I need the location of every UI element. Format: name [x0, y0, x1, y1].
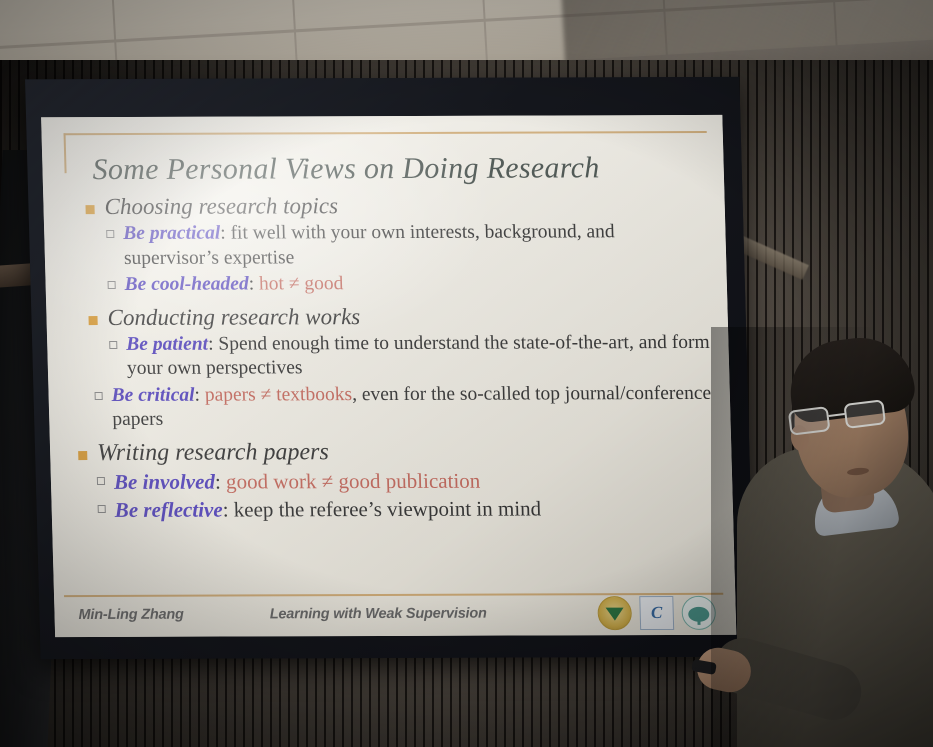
title-tick — [64, 133, 67, 173]
slide-body: Choosing research topics Be practical: f… — [63, 192, 715, 524]
title-rule — [64, 131, 707, 135]
square-bullet-icon — [88, 316, 97, 325]
sub-bullet-lead: Be cool-headed — [124, 274, 249, 295]
bullet-level2: Be cool-headed: hot ≠ good — [107, 271, 709, 298]
footer-logos: C — [597, 596, 716, 630]
presenter-shading — [711, 327, 933, 747]
sub-bullet-sep: : — [215, 469, 227, 493]
hollow-square-bullet-icon — [98, 505, 106, 513]
slide-group-conducting: Conducting research works Be patient: Sp… — [66, 303, 713, 433]
sub-bullet-body-red: papers ≠ textbooks — [205, 384, 353, 406]
projection-screen-frame: Some Personal Views on Doing Research Ch… — [25, 77, 755, 659]
bullet-level2: Be critical: papers ≠ textbooks, even fo… — [94, 382, 712, 433]
university-seal-logo — [597, 596, 632, 630]
square-bullet-icon — [78, 451, 87, 460]
slide-title: Some Personal Views on Doing Research — [92, 151, 706, 187]
sub-bullet-sep: : — [208, 333, 219, 354]
hollow-square-bullet-icon — [108, 281, 116, 289]
sub-bullet-body: keep the referee’s viewpoint in mind — [233, 497, 541, 522]
sub-bullet-lead: Be critical — [111, 384, 194, 405]
sub-bullet-lead: Be practical — [123, 223, 221, 244]
footer-author: Min-Ling Zhang — [78, 607, 184, 623]
presentation-slide: Some Personal Views on Doing Research Ch… — [41, 115, 736, 637]
group-heading: Writing research papers — [97, 439, 329, 467]
sub-bullet-text: Be reflective: keep the referee’s viewpo… — [114, 495, 715, 524]
sub-bullet-text: Be patient: Spend enough time to underst… — [126, 331, 711, 382]
sub-bullet-sep: : — [222, 498, 234, 522]
sub-bullet-text: Be practical: fit well with your own int… — [123, 220, 708, 271]
sub-bullet-body: good work ≠ good publication — [226, 469, 481, 494]
slide-group-choosing: Choosing research topics Be practical: f… — [63, 192, 709, 298]
slide-footer: Min-Ling Zhang Learning with Weak Superv… — [64, 595, 726, 633]
group-heading: Conducting research works — [107, 304, 360, 331]
hollow-square-bullet-icon — [95, 392, 103, 400]
hollow-square-bullet-icon — [106, 230, 114, 238]
lecture-room-photo: Some Personal Views on Doing Research Ch… — [0, 0, 933, 747]
bullet-level2: Be patient: Spend enough time to underst… — [109, 331, 711, 382]
hollow-square-bullet-icon — [109, 341, 117, 349]
sub-bullet-body: hot ≠ good — [259, 273, 344, 294]
footer-talk-title: Learning with Weak Supervision — [270, 606, 487, 623]
bullet-level2: Be involved: good work ≠ good publicatio… — [97, 467, 715, 496]
bullet-level1: Conducting research works — [88, 303, 710, 331]
bullet-level2: Be reflective: keep the referee’s viewpo… — [97, 495, 715, 524]
hollow-square-bullet-icon — [97, 477, 105, 485]
sub-bullet-lead: Be reflective — [114, 498, 223, 522]
sub-bullet-text: Be critical: papers ≠ textbooks, even fo… — [111, 382, 712, 433]
bullet-level1: Choosing research topics — [85, 192, 707, 220]
c-monogram-logo: C — [639, 596, 674, 630]
bullet-level1: Writing research papers — [78, 438, 714, 467]
sub-bullet-lead: Be patient — [126, 333, 208, 354]
projection-screen: Some Personal Views on Doing Research Ch… — [41, 115, 736, 637]
square-bullet-icon — [85, 205, 94, 214]
sub-bullet-lead: Be involved — [114, 470, 216, 494]
bullet-level2: Be practical: fit well with your own int… — [106, 220, 708, 271]
slide-group-writing: Writing research papers Be involved: goo… — [70, 438, 715, 524]
sub-bullet-text: Be involved: good work ≠ good publicatio… — [114, 467, 715, 496]
group-heading: Choosing research topics — [104, 193, 338, 220]
presenter-person — [711, 327, 933, 747]
sub-bullet-text: Be cool-headed: hot ≠ good — [124, 271, 709, 298]
